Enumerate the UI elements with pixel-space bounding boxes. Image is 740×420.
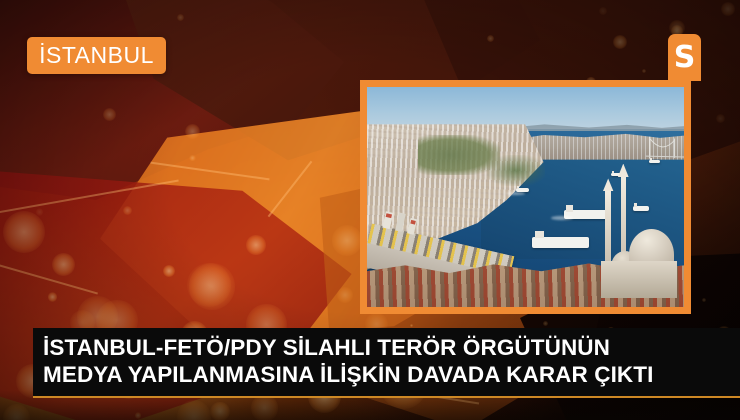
photo-mosque-body bbox=[601, 261, 676, 298]
photo-frame bbox=[360, 80, 691, 314]
photo-park-2 bbox=[487, 155, 544, 186]
photo-ferry-6 bbox=[649, 160, 660, 163]
photo-bosphorus-bridge bbox=[646, 135, 684, 161]
headline-line-2: MEDYA YAPILANMASINA İLİŞKİN DAVADA KARAR… bbox=[43, 362, 729, 389]
photo-sky bbox=[367, 87, 684, 129]
photo-mosque-minaret-2 bbox=[605, 190, 610, 271]
headline-line-1: İSTANBUL-FETÖ/PDY SİLAHLI TERÖR ÖRGÜTÜNÜ… bbox=[43, 335, 729, 362]
photo-ferry-4-wake bbox=[506, 192, 525, 196]
istanbul-aerial-photo bbox=[367, 87, 684, 307]
location-badge: İSTANBUL bbox=[27, 37, 166, 74]
s-logo[interactable]: S bbox=[668, 34, 701, 81]
news-lower-third-graphic: İSTANBUL S bbox=[0, 0, 740, 420]
s-logo-mark: S bbox=[674, 43, 696, 73]
photo-new-mosque bbox=[570, 175, 678, 298]
location-badge-label: İSTANBUL bbox=[39, 44, 154, 67]
headline-bar: İSTANBUL-FETÖ/PDY SİLAHLI TERÖR ÖRGÜTÜNÜ… bbox=[33, 328, 740, 398]
